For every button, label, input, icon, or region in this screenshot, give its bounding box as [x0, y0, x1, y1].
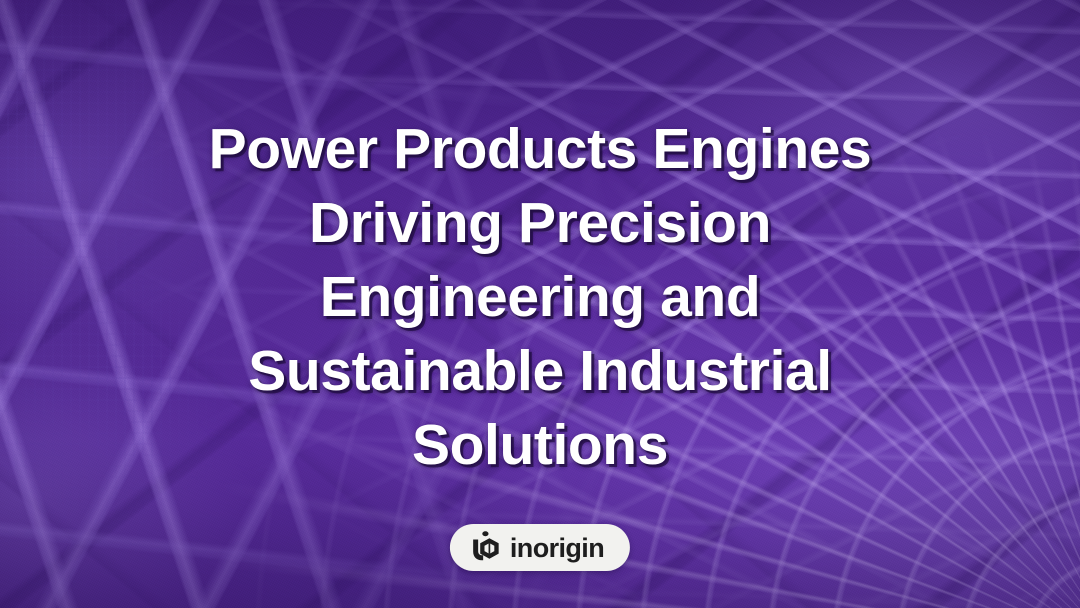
hero-banner: Power Products Engines Driving Precision… — [0, 0, 1080, 608]
headline-line-2: Driving Precision — [52, 186, 1028, 260]
brand-wordmark: inorigin — [510, 535, 604, 562]
headline-line-5: Solutions — [52, 408, 1028, 482]
headline-line-4: Sustainable Industrial — [52, 334, 1028, 408]
brand-logo-badge[interactable]: inorigin — [450, 524, 630, 571]
headline-line-1: Power Products Engines — [52, 112, 1028, 186]
headline-line-3: Engineering and — [52, 260, 1028, 334]
headline-block: Power Products Engines Driving Precision… — [0, 112, 1080, 482]
hexagonal-cube-mark-icon — [470, 531, 501, 564]
